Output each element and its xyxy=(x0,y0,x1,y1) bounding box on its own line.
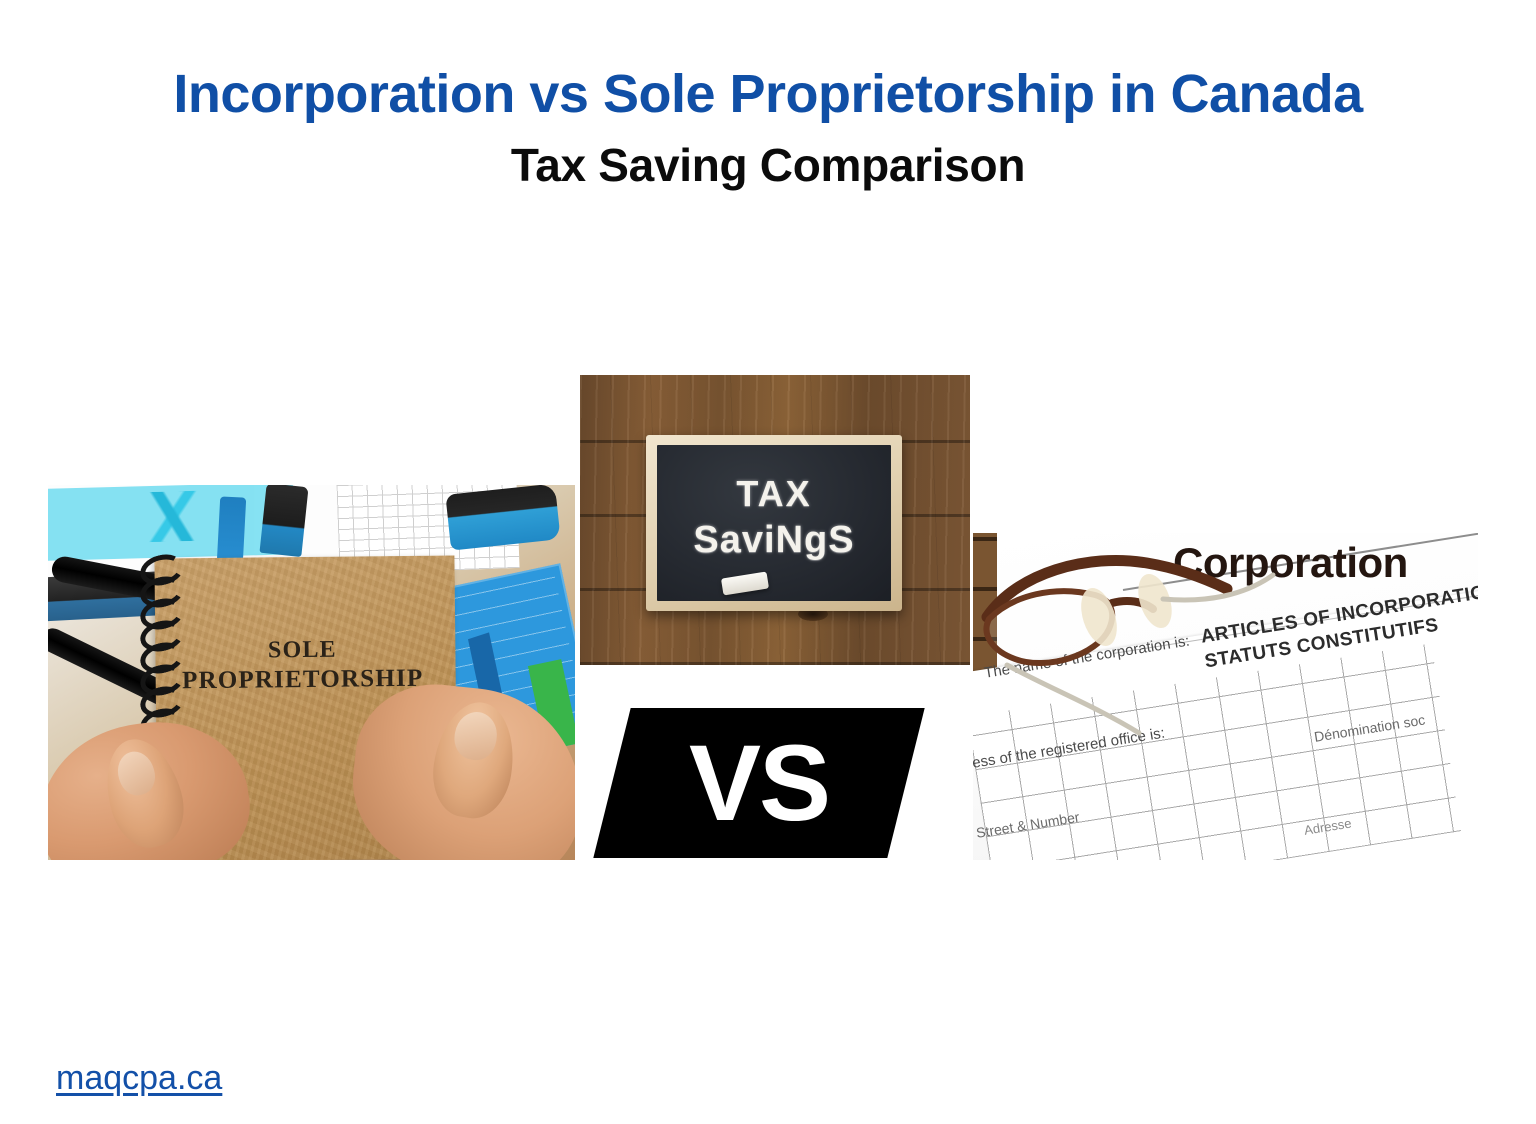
image-collage: SOLE PROPRIETORSHIP TAX SaviNgS VS xyxy=(0,0,1536,1124)
stapler xyxy=(445,485,560,551)
notebook-cover-text: SOLE PROPRIETORSHIP xyxy=(155,633,450,696)
tax-savings-photo: TAX SaviNgS xyxy=(580,375,970,665)
blue-chart-paper xyxy=(48,485,295,561)
chalkboard-surface: TAX SaviNgS xyxy=(657,445,891,601)
chalkboard-frame: TAX SaviNgS xyxy=(646,435,902,611)
corporation-photo: Corporation ARTICLES OF INCORPORATION ST… xyxy=(973,533,1478,860)
chalk-text-line-2: SaviNgS xyxy=(657,519,891,562)
website-link[interactable]: maqcpa.ca xyxy=(56,1057,222,1099)
vs-badge-label: VS xyxy=(612,708,906,858)
notebook-text-line-1: SOLE xyxy=(155,633,449,666)
dark-marker xyxy=(259,485,308,557)
corporation-heading: Corporation xyxy=(1173,537,1408,589)
sole-proprietorship-photo: SOLE PROPRIETORSHIP xyxy=(48,485,575,860)
chalk-text-line-1: TAX xyxy=(657,473,891,515)
vs-badge: VS xyxy=(593,708,924,858)
